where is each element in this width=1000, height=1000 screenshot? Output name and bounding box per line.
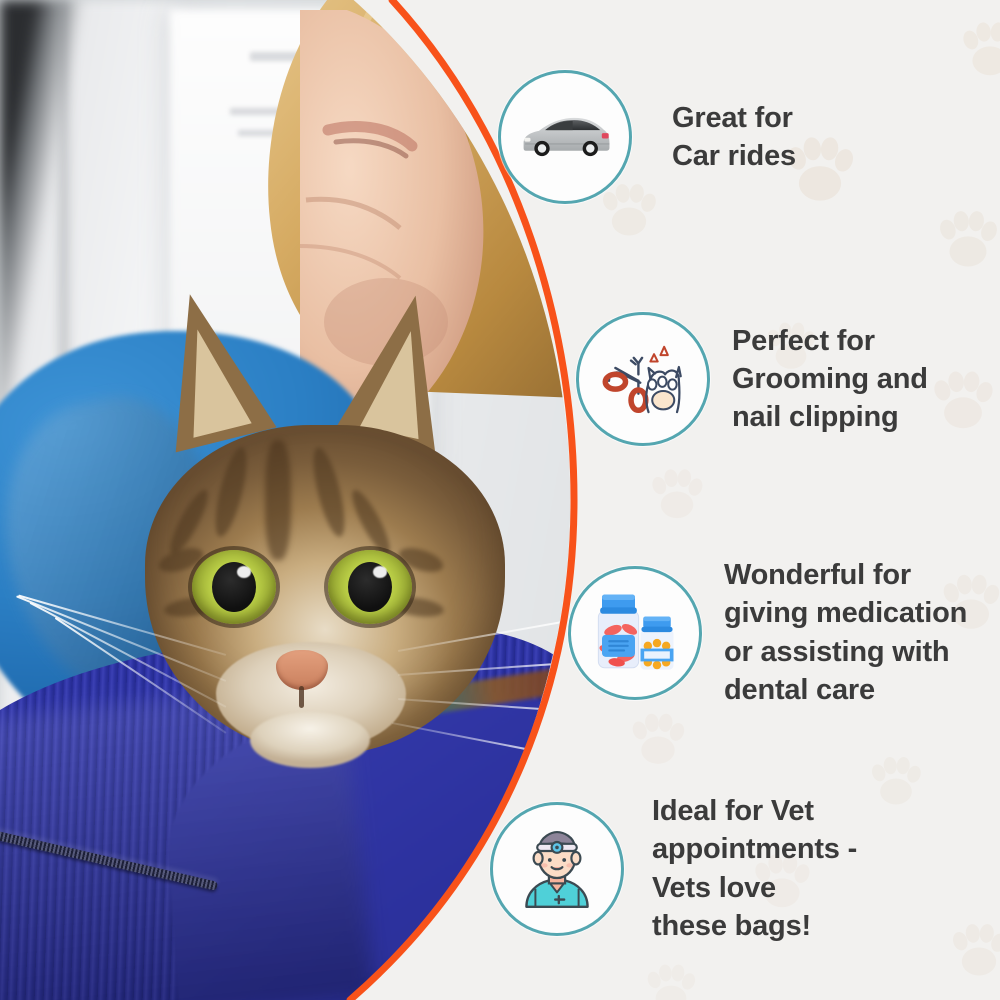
cat-forehead-marking: [265, 440, 291, 560]
feature-label: Ideal for Vet appointments - Vets love t…: [652, 792, 857, 945]
feature-icon-badge: [490, 802, 624, 936]
pill-bottles-icon: [589, 589, 681, 677]
feature-item-vet-appointments[interactable]: Ideal for Vet appointments - Vets love t…: [490, 792, 857, 945]
paw-print-icon: [636, 952, 706, 1000]
paw-print-icon: [950, 8, 1000, 88]
feature-item-car-rides[interactable]: Great for Car rides: [498, 70, 796, 204]
cat-whisker: [392, 722, 575, 759]
feature-label: Great for Car rides: [672, 99, 796, 176]
feature-item-medication[interactable]: Wonderful for giving medication or assis…: [568, 556, 967, 709]
paw-print-icon: [940, 910, 1000, 988]
paw-print-icon: [640, 456, 714, 530]
feature-icon-badge: [498, 70, 632, 204]
cat-eye-right: [328, 550, 412, 624]
cat-eye-left: [192, 550, 276, 624]
feature-item-grooming[interactable]: Perfect for Grooming and nail clipping: [576, 312, 928, 446]
paw-print-icon: [926, 196, 1000, 280]
cat-chin: [250, 712, 370, 768]
nail-clippers-paw-icon: [597, 333, 689, 425]
paw-print-icon: [920, 356, 1000, 442]
feature-icon-badge: [568, 566, 702, 700]
paw-print-icon: [860, 744, 932, 816]
cat: [80, 250, 550, 810]
cat-mouth: [299, 686, 304, 708]
feature-label: Wonderful for giving medication or assis…: [724, 556, 967, 709]
feature-icon-badge: [576, 312, 710, 446]
feature-label: Perfect for Grooming and nail clipping: [732, 322, 928, 437]
infographic-root: Great for Car rides: [0, 0, 1000, 1000]
car-icon: [519, 110, 611, 164]
paw-print-icon: [620, 700, 696, 776]
veterinarian-icon: [512, 824, 602, 914]
